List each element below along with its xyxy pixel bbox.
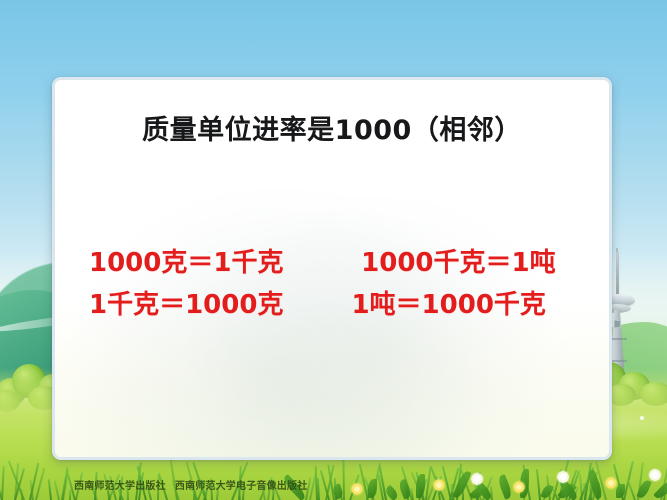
grass-leaf — [397, 479, 412, 500]
meadow-flower-icon — [648, 468, 662, 482]
grass-blade — [415, 471, 425, 500]
publisher-name-secondary: 西南师范大学电子音像出版社 — [175, 477, 308, 492]
grass-blade — [660, 461, 667, 500]
grass-blade — [411, 472, 424, 500]
presentation-slide: 质量单位进率是1000（相邻） 1000克＝1千克 1000千克＝1吨 1千克＝… — [0, 0, 667, 500]
grass-blade — [522, 464, 531, 500]
grass-blade — [359, 463, 369, 500]
grass-blade — [579, 467, 594, 500]
grass-blade — [536, 469, 541, 500]
equation-list: 1000克＝1千克 1000千克＝1吨 1千克＝1000克 1吨＝1000千克 — [81, 242, 583, 326]
grass-blade — [558, 459, 569, 500]
page-title: 质量单位进率是1000（相邻） — [55, 108, 609, 147]
grass-blade — [1, 465, 5, 500]
grass-blade — [584, 462, 592, 500]
grass-blade — [410, 487, 414, 500]
grass-blade — [588, 481, 597, 500]
grass-leaf — [452, 469, 471, 499]
tower-spire — [616, 252, 619, 296]
grass-leaf — [540, 483, 554, 499]
grass-blade — [366, 485, 369, 500]
equation-row: 1000克＝1千克 1000千克＝1吨 — [81, 242, 583, 279]
grass-leaf — [585, 469, 604, 499]
grass-blade — [61, 468, 68, 500]
grass-blade — [334, 478, 337, 500]
grass-blade — [14, 468, 25, 500]
grass-leaf — [520, 469, 529, 498]
grass-blade — [363, 477, 374, 500]
grass-blade — [327, 464, 335, 500]
grass-leaf — [384, 485, 400, 500]
grass-blade — [595, 461, 607, 500]
grass-blade — [472, 479, 482, 500]
grass-blade — [449, 468, 459, 500]
grass-blade — [314, 466, 317, 500]
grass-leaf — [653, 478, 667, 500]
grass-blade — [349, 474, 360, 500]
grass-leaf — [496, 474, 513, 500]
grass-blade — [583, 483, 586, 500]
light-sparkle — [640, 416, 644, 420]
grass-blade — [565, 469, 577, 500]
grass-blade — [476, 485, 479, 500]
grass-blade — [401, 466, 413, 500]
grass-blade — [613, 464, 624, 500]
meadow-flower-icon — [470, 472, 484, 486]
grass-blade — [543, 486, 548, 500]
grass-blade — [460, 468, 473, 500]
grass-leaf — [416, 474, 425, 498]
grass-blade — [552, 488, 559, 500]
equation-kilogram-to-gram: 1千克＝1000克 — [81, 284, 337, 321]
grass-blade — [69, 489, 71, 500]
grass-blade — [342, 459, 345, 500]
grass-blade — [430, 466, 445, 500]
grass-blade — [477, 472, 481, 500]
grass-blade — [592, 486, 597, 500]
grass-blade — [405, 478, 409, 500]
meadow-flower-icon — [512, 480, 526, 494]
grass-blade — [588, 472, 598, 500]
meadow-flower-icon — [556, 470, 570, 484]
grass-blade — [425, 466, 432, 500]
grass-blade — [442, 466, 452, 500]
equation-gram-to-kilogram: 1000克＝1千克 — [81, 242, 337, 279]
grass-blade — [663, 489, 666, 500]
meadow-flower-icon — [350, 482, 364, 496]
grass-blade — [47, 479, 51, 500]
content-card: 质量单位进率是1000（相邻） 1000克＝1千克 1000千克＝1吨 1千克＝… — [52, 77, 612, 460]
grass-blade — [436, 476, 442, 500]
tower-tip — [616, 248, 618, 256]
grass-blade — [523, 485, 527, 500]
grass-blade — [0, 481, 2, 500]
grass-blade — [490, 485, 493, 500]
grass-leaf — [616, 484, 625, 498]
equation-kilogram-to-ton: 1000千克＝1吨 — [337, 242, 583, 279]
grass-blade — [579, 474, 583, 500]
tower-window — [614, 320, 621, 328]
grass-blade — [325, 464, 335, 500]
grass-blade — [427, 477, 437, 500]
grass-leaf — [557, 478, 580, 500]
grass-blade — [552, 469, 562, 500]
grass-blade — [589, 485, 592, 500]
grass-blade — [450, 484, 455, 500]
publisher-name-primary: 西南师范大学出版社 — [74, 477, 166, 492]
grass-blade — [432, 476, 442, 500]
grass-blade — [371, 462, 381, 500]
grass-blade — [14, 463, 19, 500]
grass-blade — [456, 463, 462, 500]
grass-blade — [597, 481, 599, 500]
grass-blade — [546, 475, 551, 500]
grass-blade — [637, 462, 644, 500]
grass-blade — [461, 483, 463, 500]
meadow-flower-icon — [604, 476, 618, 490]
grass-blade — [378, 466, 387, 500]
publisher-footer: 西南师范大学出版社 西南师范大学电子音像出版社 — [74, 477, 307, 492]
grass-blade — [62, 470, 69, 500]
grass-leaf — [331, 483, 345, 499]
grass-blade — [53, 480, 59, 500]
grass-blade — [482, 476, 493, 500]
grass-blade — [29, 463, 39, 500]
grass-leaf — [368, 479, 377, 498]
grass-leaf — [469, 485, 485, 500]
grass-blade — [316, 477, 319, 500]
grass-blade — [30, 480, 35, 500]
equation-ton-to-kilogram: 1吨＝1000千克 — [337, 284, 583, 321]
grass-blade — [568, 470, 580, 500]
grass-blade — [309, 474, 317, 500]
grass-leaf — [474, 481, 494, 500]
grass-blade — [338, 485, 343, 500]
equation-row: 1千克＝1000克 1吨＝1000千克 — [81, 284, 583, 321]
grass-blade — [451, 484, 454, 500]
grass-blade — [418, 479, 427, 500]
grass-blade — [377, 474, 384, 500]
grass-blade — [626, 480, 635, 500]
grass-leaf — [636, 479, 651, 500]
grass-blade — [35, 468, 45, 500]
grass-blade — [378, 465, 386, 500]
grass-leaf — [557, 481, 577, 500]
meadow-flower-icon — [432, 478, 446, 492]
grass-blade — [572, 487, 579, 500]
grass-blade — [20, 489, 22, 500]
grass-blade — [623, 460, 634, 500]
grass-blade — [7, 461, 24, 500]
grass-blade — [320, 470, 330, 500]
